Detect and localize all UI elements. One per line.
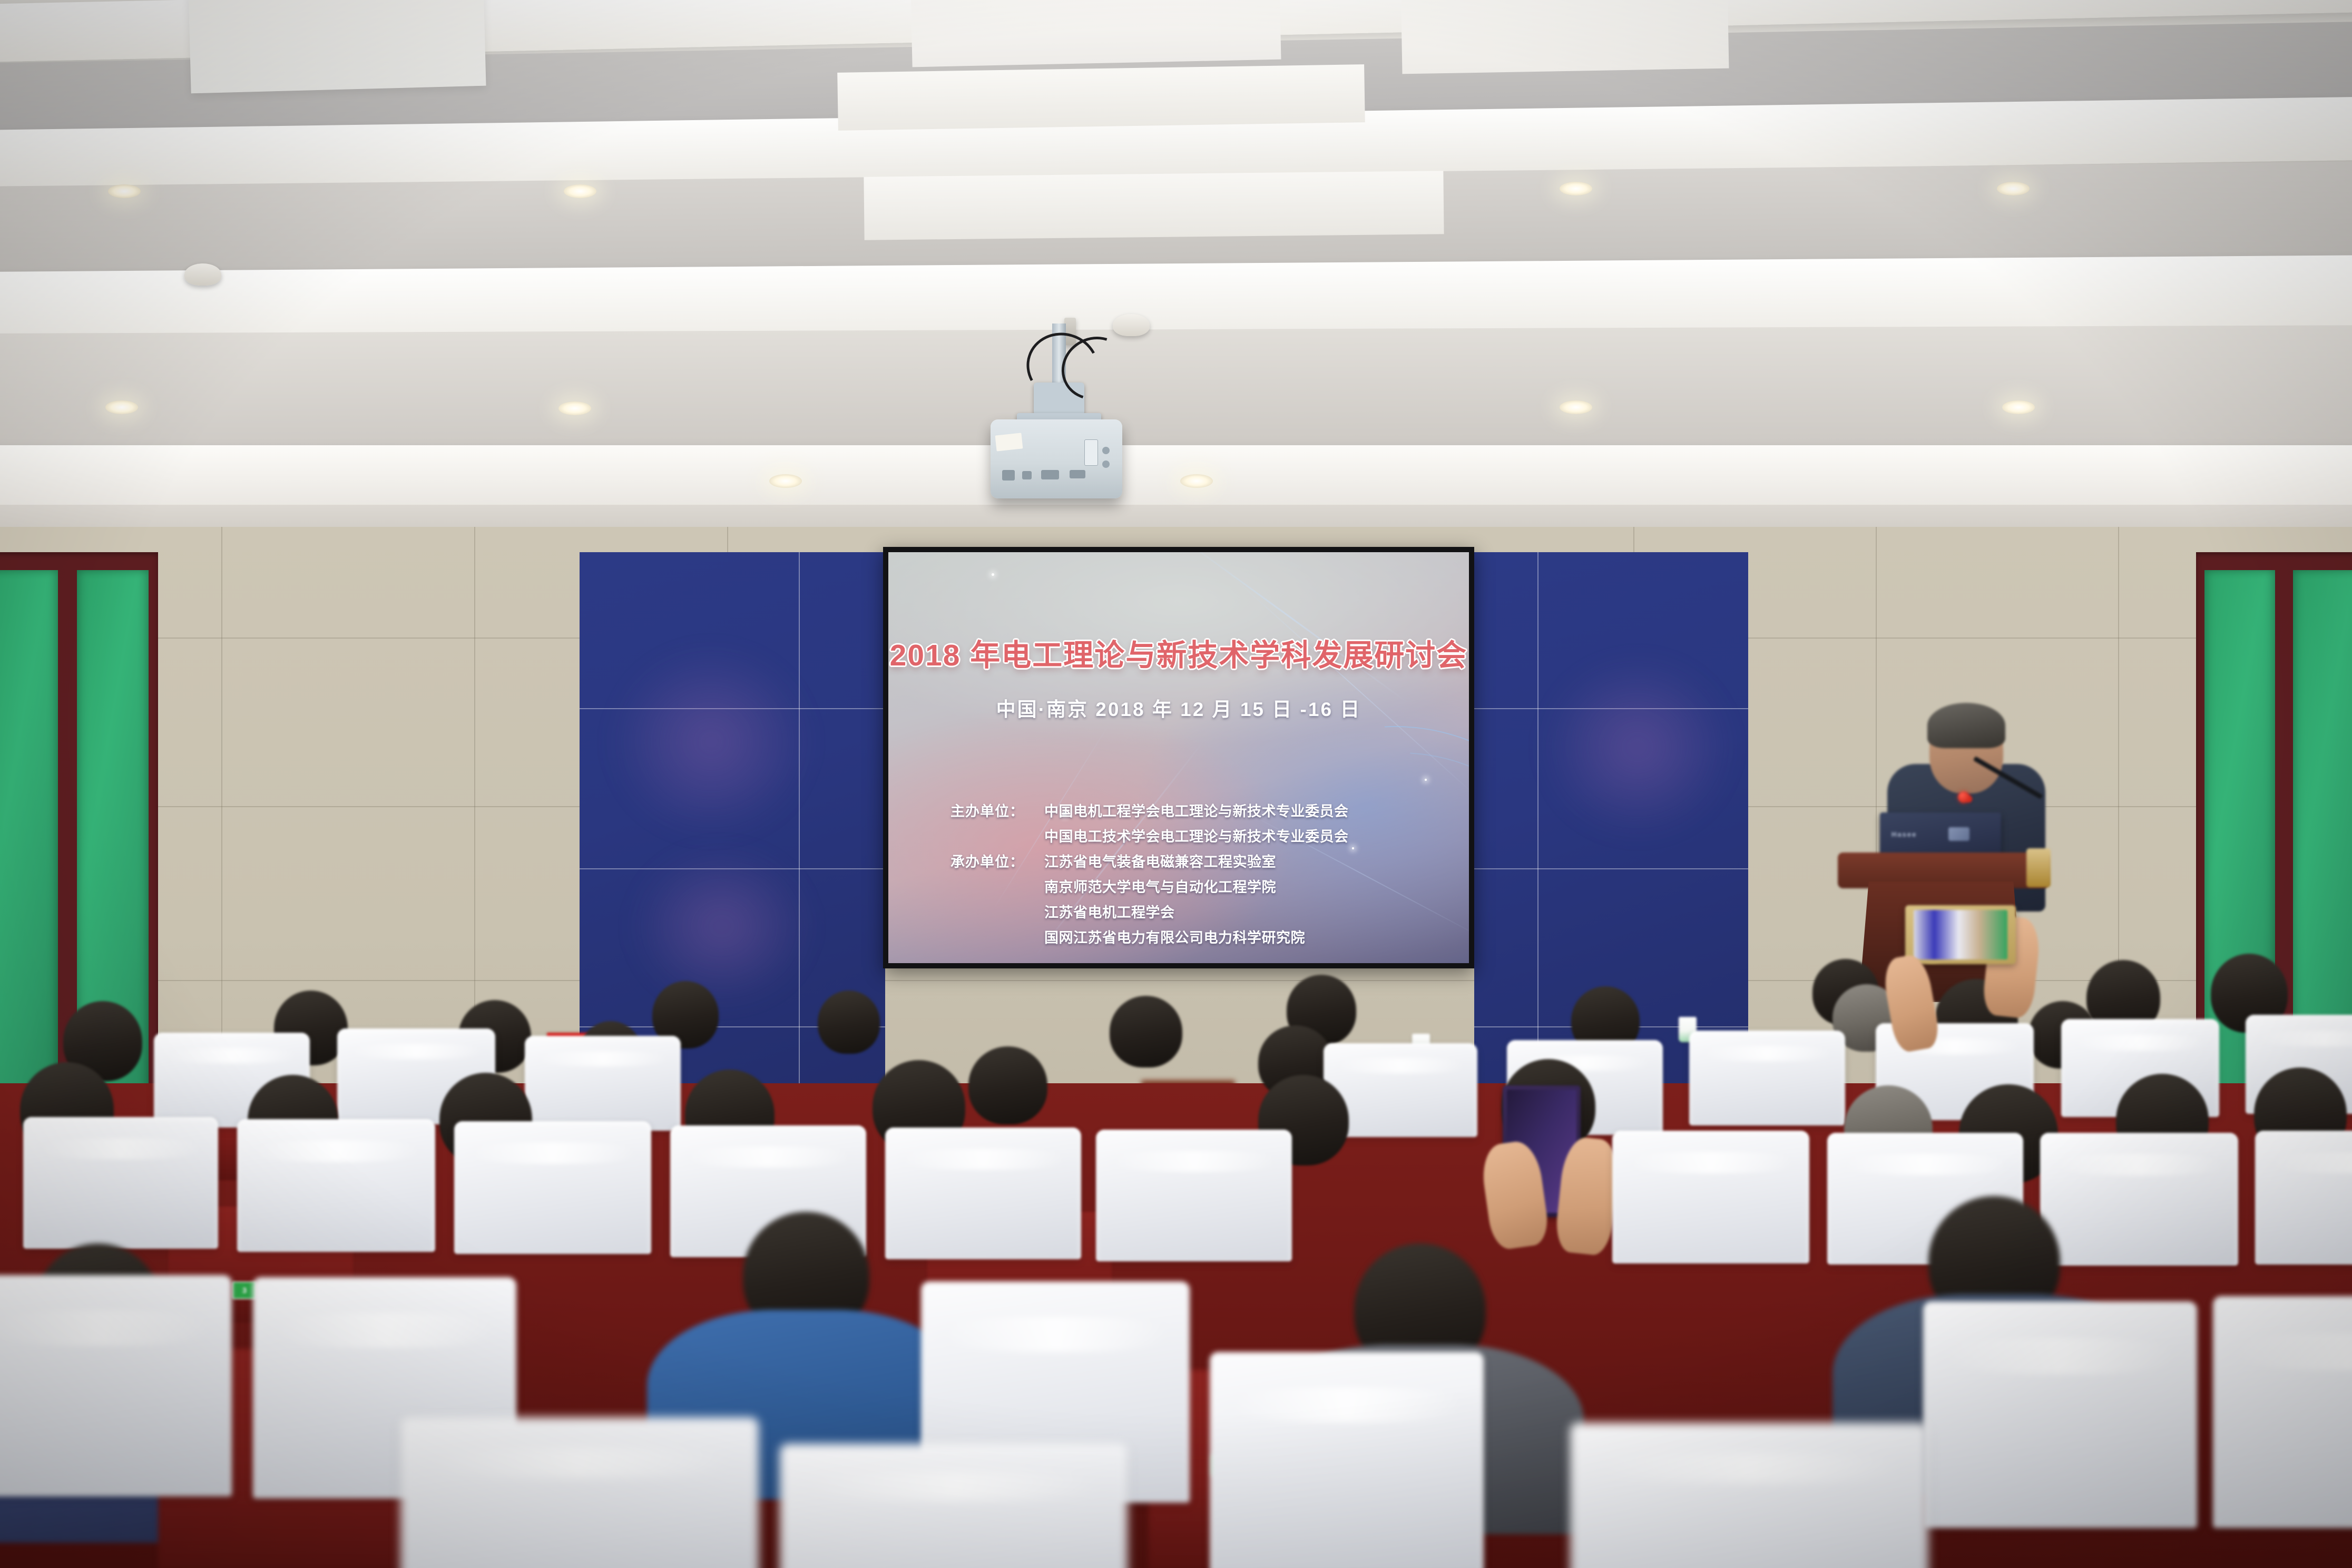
slide-subtitle: 中国·南京 2018 年 12 月 15 日 -16 日 (888, 693, 1469, 722)
ceiling-downlight (1997, 182, 2030, 195)
host-row: 江苏省电机工程学会 (950, 901, 1437, 922)
chair-cover[interactable] (237, 1119, 435, 1252)
ceiling-downlight (769, 474, 802, 488)
chair-cover[interactable] (400, 1417, 759, 1568)
laptop-brand-label: Hasee (1892, 830, 1917, 838)
ceiling-downlight (564, 184, 596, 198)
projector-label (995, 433, 1023, 451)
chair-cover[interactable] (2255, 1131, 2352, 1265)
speaker-hair (1927, 703, 2005, 748)
ceiling-downlight (1560, 400, 1592, 414)
host-value: 南京师范大学电气与自动化工程学院 (1044, 876, 1276, 896)
laptop-logo-icon (1948, 827, 1969, 841)
projection-screen-frame: 2018 年电工理论与新技术学科发展研讨会 中国·南京 2018 年 12 月 … (883, 547, 1474, 968)
projector-vent (1084, 439, 1098, 466)
organizer-row: 主办单位： 中国电机工程学会电工理论与新技术专业委员会 (950, 800, 1437, 820)
slide-sparkle (1425, 779, 1427, 781)
chair-cover[interactable] (1689, 1031, 1845, 1125)
organizer-value: 中国电机工程学会电工理论与新技术专业委员会 (1044, 800, 1349, 820)
chair-cover[interactable] (1923, 1301, 2197, 1528)
ceiling-beam-4 (0, 445, 2352, 508)
attendee-head (818, 991, 880, 1054)
ceiling-downlight (108, 184, 141, 198)
ceiling-downlight (105, 400, 138, 414)
ceiling-coffer-panel-mid2 (864, 171, 1444, 240)
host-value: 江苏省电气装备电磁兼容工程实验室 (1044, 850, 1276, 871)
chair-cover[interactable] (1570, 1423, 1928, 1568)
podium-gooseneck-clamp (2026, 848, 2051, 887)
slide-title: 2018 年电工理论与新技术学科发展研讨会 (888, 631, 1469, 674)
host-value: 江苏省电机工程学会 (1044, 901, 1175, 922)
panel-reflection (1543, 658, 1732, 837)
host-row: 承办单位： 江苏省电气装备电磁兼容工程实验室 (950, 850, 1437, 871)
panel-reflection (632, 847, 811, 1005)
podium-laptop: Hasee (1880, 812, 2001, 858)
ceiling-downlight (2002, 400, 2035, 414)
slide-organizer-block: 主办单位： 中国电机工程学会电工理论与新技术专业委员会 中国电工技术学会电工理论… (950, 800, 1437, 952)
chair-cover[interactable] (885, 1128, 1081, 1259)
conference-hall-photo: 2018 年电工理论与新技术学科发展研讨会 中国·南京 2018 年 12 月 … (0, 0, 2352, 1568)
host-row: 南京师范大学电气与自动化工程学院 (950, 876, 1437, 896)
ceiling-coffer-panel-left (188, 0, 486, 93)
ceiling (0, 0, 2352, 558)
panel-grid-line (1474, 868, 1748, 869)
phone-camera[interactable] (1905, 905, 2016, 964)
chair-cover[interactable] (1612, 1131, 1809, 1263)
attendee-head (968, 1046, 1047, 1124)
projection-screen: 2018 年电工理论与新技术学科发展研讨会 中国·南京 2018 年 12 月 … (888, 552, 1469, 963)
ceiling-coffer-panel-mid (911, 0, 1281, 67)
smoke-detector-icon (184, 263, 221, 286)
projector-port (1070, 470, 1085, 478)
host-label: 承办单位： (950, 850, 1044, 871)
projector-indicator (1102, 447, 1110, 454)
ceiling-downlight (558, 401, 591, 415)
slide-sparkle (992, 573, 994, 576)
projector-port (1022, 471, 1032, 479)
attendee-head (1110, 996, 1182, 1067)
panel-grid-line (799, 552, 800, 1142)
phone-screen (1914, 910, 2007, 959)
host-row: 国网江苏省电力有限公司电力科学研究院 (950, 926, 1437, 947)
chair-cover[interactable] (1210, 1352, 1484, 1568)
microphone-head-icon (1958, 791, 1969, 803)
ceiling-downlight (1560, 182, 1592, 195)
projector-port (1002, 470, 1015, 481)
ceiling-recess-3 (0, 325, 2352, 455)
smoke-detector-icon (1113, 314, 1150, 336)
panel-reflection (611, 647, 811, 837)
ceiling-coffer-panel-right (1401, 0, 1729, 74)
chair-cover[interactable] (780, 1444, 1128, 1568)
projector-indicator (1102, 460, 1110, 468)
host-value: 国网江苏省电力有限公司电力科学研究院 (1044, 926, 1305, 947)
chair-cover[interactable] (1096, 1130, 1292, 1261)
chair-cover[interactable] (454, 1121, 651, 1254)
chair-cover[interactable] (2040, 1133, 2238, 1266)
projector-port (1041, 470, 1059, 479)
ceiling-projector (991, 419, 1122, 498)
chair-cover[interactable] (2213, 1296, 2352, 1528)
chair-cover[interactable] (0, 1275, 232, 1496)
organizer-label: 主办单位： (950, 800, 1044, 820)
organizer-row: 中国电工技术学会电工理论与新技术专业委员会 (950, 825, 1437, 846)
ceiling-downlight (1180, 474, 1213, 488)
chair-cover[interactable] (23, 1117, 218, 1249)
ceiling-coffer-panel-mid3 (837, 64, 1365, 131)
chair-cover[interactable] (525, 1036, 681, 1131)
organizer-value: 中国电工技术学会电工理论与新技术专业委员会 (1044, 825, 1349, 846)
